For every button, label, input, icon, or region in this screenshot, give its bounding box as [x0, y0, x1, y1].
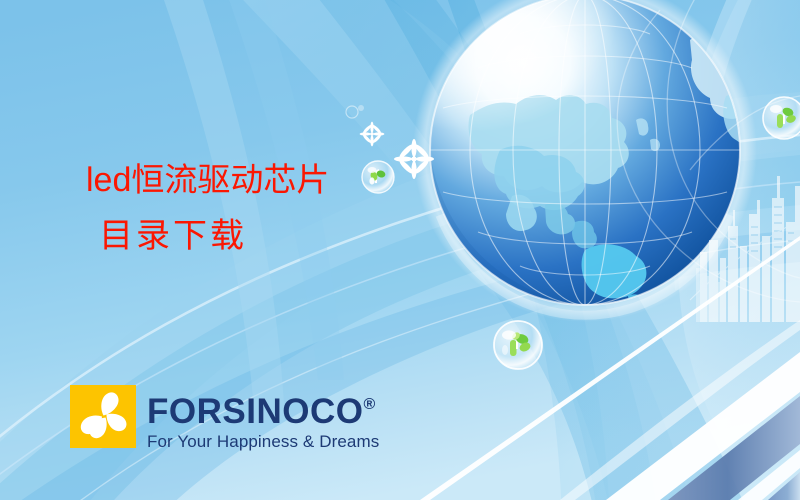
headline-cjk: 恒流驱动芯片: [131, 160, 329, 199]
logo-text-block: FORSINOCO® For Your Happiness & Dreams: [147, 386, 379, 452]
diagonal-soft-sheen: [560, 320, 800, 500]
bubble-sprout-edge-icon: [763, 97, 800, 139]
logo-tagline: For Your Happiness & Dreams: [147, 432, 379, 452]
headline-latin: led: [86, 161, 131, 199]
promo-banner: led恒流驱动芯片 目录下载 FORSINOCO® For Your Happi…: [0, 0, 800, 500]
headline-block: led恒流驱动芯片 目录下载: [86, 163, 329, 253]
sparkle-flower-group: [360, 122, 434, 179]
bubble-sprout-icon: [362, 161, 394, 193]
headline-line-2: 目录下载: [99, 219, 329, 253]
diagonal-white-band-2: [738, 450, 800, 500]
diagonal-band-group: [420, 236, 800, 500]
logo-wordmark: FORSINOCO®: [147, 386, 379, 431]
orbit-arc-group: [617, 0, 800, 302]
diagonal-white-band: [606, 352, 800, 500]
four-petal-pinwheel-icon: [70, 385, 136, 448]
brand-logo: FORSINOCO® For Your Happiness & Dreams: [70, 385, 379, 452]
bubble-group: [362, 97, 800, 369]
diagonal-steel-band-2: [768, 472, 800, 500]
diagonal-steel-band: [668, 396, 800, 500]
bubble-pinwheel-icon: [494, 321, 542, 369]
headline-line-1: led恒流驱动芯片: [86, 163, 329, 197]
registered-trademark-icon: ®: [363, 396, 375, 413]
faint-bubble-group: [346, 105, 364, 118]
blue-globe-icon: [383, 0, 800, 322]
diagonal-white-hairline: [420, 236, 800, 500]
city-skyline-silhouette: [690, 176, 800, 322]
logo-wordmark-text: FORSINOCO: [147, 392, 363, 431]
